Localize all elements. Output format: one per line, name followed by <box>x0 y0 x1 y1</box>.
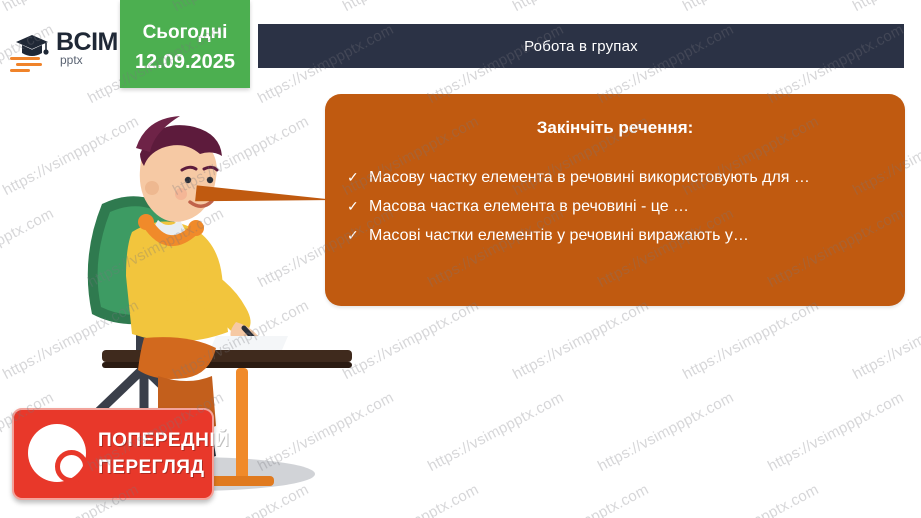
magnifier-icon <box>28 424 86 482</box>
preview-label-line2: ПЕРЕГЛЯД <box>98 457 205 479</box>
watermark-text: https://vsimppptx.com <box>680 0 822 15</box>
speech-bubble: Закінчіть речення: ✓ Масову частку елеме… <box>325 94 905 306</box>
list-item: ✓ Масову частку елемента в речовині вико… <box>347 166 891 189</box>
watermark-text: https://vsimppptx.com <box>765 389 907 475</box>
watermark-text: https://vsimppptx.com <box>340 481 482 518</box>
checkmark-icon: ✓ <box>347 166 369 189</box>
watermark-text: https://vsimppptx.com <box>425 389 567 475</box>
watermark-text: https://vsimppptx.com <box>850 0 921 15</box>
preview-badge[interactable]: ПОПЕРЕДНІЙ ПЕРЕГЛЯД <box>12 408 214 500</box>
list-item-text: Масова частка елемента в речовині - це … <box>369 195 891 218</box>
watermark-text: https://vsimppptx.com <box>595 389 737 475</box>
slide-canvas: Робота в групах BCIM pptx Сьогодні 12.09… <box>0 0 921 518</box>
watermark-text: https://vsimppptx.com <box>340 0 482 15</box>
watermark-text: https://vsimppptx.com <box>850 297 921 383</box>
watermark-text: https://vsimppptx.com <box>510 297 652 383</box>
page-title: Робота в групах <box>258 24 904 68</box>
watermark-text: https://vsimppptx.com <box>680 481 822 518</box>
brand-subtitle: pptx <box>60 53 83 67</box>
brand-logo[interactable]: BCIM pptx <box>10 26 134 74</box>
watermark-text: https://vsimppptx.com <box>510 481 652 518</box>
bubble-title: Закінчіть речення: <box>325 118 905 138</box>
preview-label-line1: ПОПЕРЕДНІЙ <box>98 430 229 452</box>
watermark-text: https://vsimppptx.com <box>510 0 652 15</box>
watermark-text: https://vsimppptx.com <box>850 481 921 518</box>
list-item: ✓ Масові частки елементів у речовині вир… <box>347 224 891 247</box>
bubble-task-list: ✓ Масову частку елемента в речовині вико… <box>347 166 891 253</box>
list-item: ✓ Масова частка елемента в речовині - це… <box>347 195 891 218</box>
checkmark-icon: ✓ <box>347 195 369 218</box>
watermark-text: https://vsimppptx.com <box>680 297 822 383</box>
header-bar: Робота в групах <box>258 24 904 68</box>
date-badge-value: 12.09.2025 <box>120 51 250 74</box>
list-item-text: Масові частки елементів у речовині вираж… <box>369 224 891 247</box>
list-item-text: Масову частку елемента в речовині викори… <box>369 166 891 189</box>
checkmark-icon: ✓ <box>347 224 369 247</box>
date-badge: Сьогодні 12.09.2025 <box>120 0 250 88</box>
watermark-text: https://vsimppptx.com <box>340 297 482 383</box>
motion-lines-icon <box>10 56 50 77</box>
date-badge-label: Сьогодні <box>120 22 250 44</box>
